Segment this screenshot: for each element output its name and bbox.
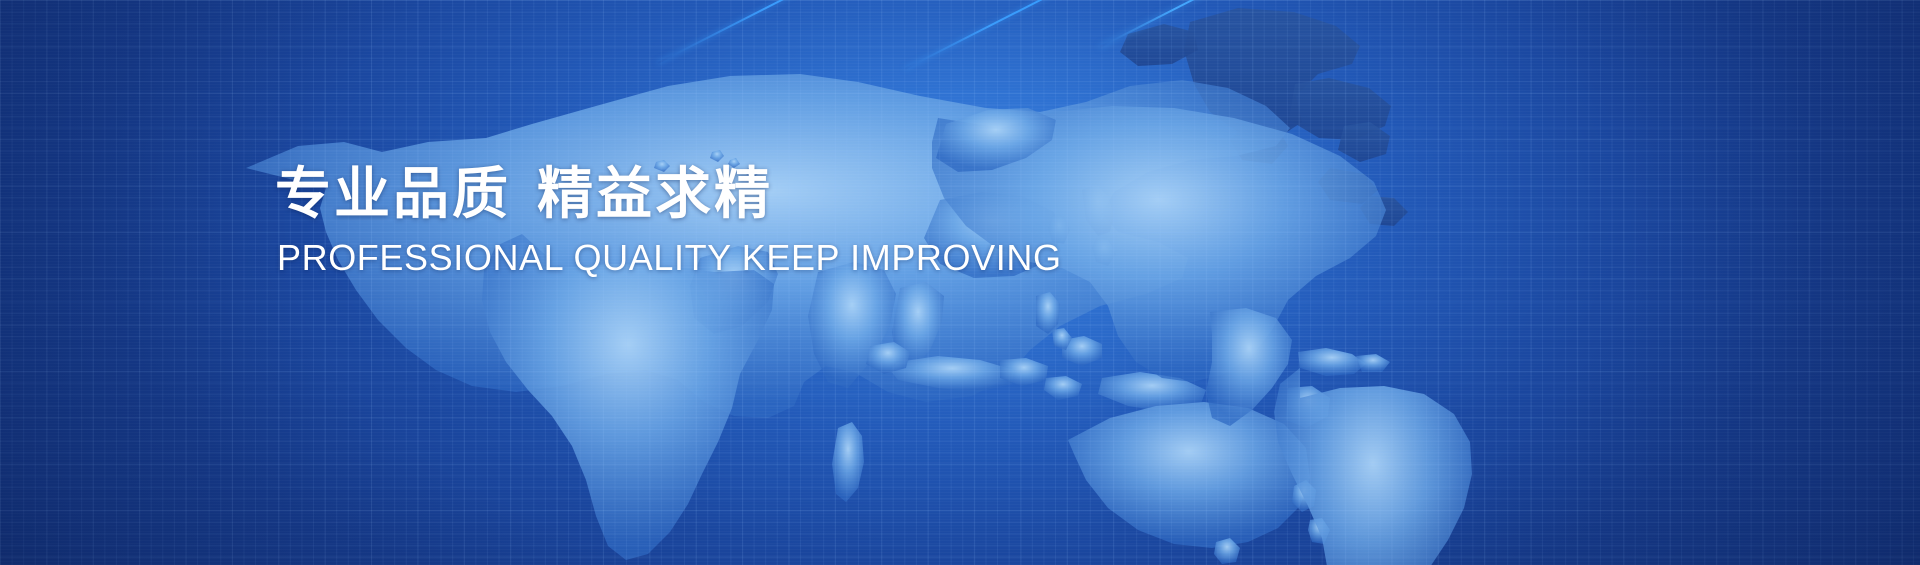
promo-banner: 专业品质精益求精 PROFESSIONAL QUALITY KEEP IMPRO… — [0, 0, 1920, 565]
headline-chinese-part-1: 专业品质 — [275, 162, 511, 225]
banner-headline-chinese: 专业品质精益求精 — [275, 163, 1062, 226]
banner-subheadline-english: PROFESSIONAL QUALITY KEEP IMPROVING — [277, 238, 1062, 278]
headline-chinese-part-2: 精益求精 — [537, 162, 773, 225]
vignette-overlay — [0, 0, 1920, 565]
banner-copy-block: 专业品质精益求精 PROFESSIONAL QUALITY KEEP IMPRO… — [275, 163, 1062, 277]
